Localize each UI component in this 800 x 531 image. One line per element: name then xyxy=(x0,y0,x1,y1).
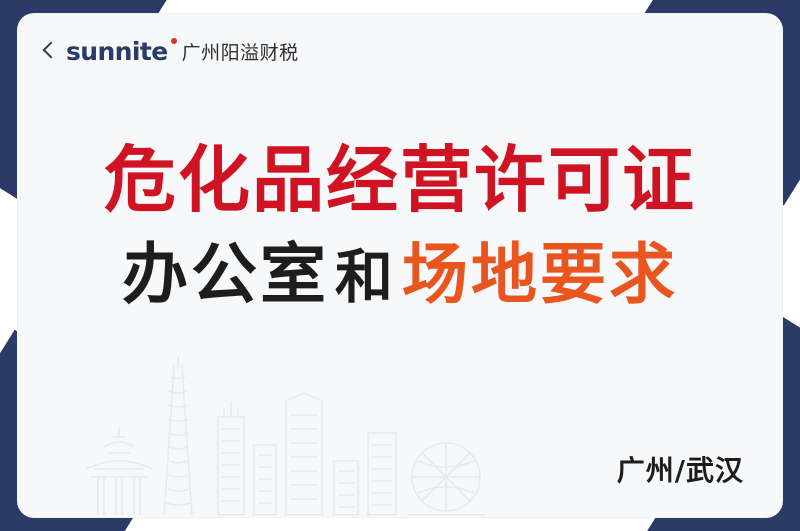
headline-segment-conjunction: 和 xyxy=(329,243,402,311)
content-card: sunnite 广州阳溢财税 危化品经营许可证 办公室和场地要求 xyxy=(18,14,782,517)
back-chevron-icon[interactable] xyxy=(40,38,56,64)
headline-segment-site: 场地要求 xyxy=(402,236,678,313)
headline-segment-office: 办公室 xyxy=(122,236,329,313)
registered-dot-icon xyxy=(171,38,177,44)
header-bar: sunnite 广州阳溢财税 xyxy=(18,14,782,88)
headline-line-1: 危化品经营许可证 xyxy=(18,144,782,216)
headline-line-2: 办公室和场地要求 xyxy=(18,242,782,308)
logo-text-part3: te xyxy=(140,39,168,64)
poster-canvas: sunnite 广州阳溢财税 危化品经营许可证 办公室和场地要求 xyxy=(0,0,800,531)
sunnite-logo[interactable]: sunnite xyxy=(66,39,168,64)
headline-block: 危化品经营许可证 办公室和场地要求 xyxy=(18,144,782,308)
brand-name-label: 广州阳溢财税 xyxy=(182,38,299,65)
city-label: 广州/武汉 xyxy=(617,449,744,489)
logo-text-part2: i xyxy=(132,39,140,64)
guangzhou-skyline-watermark-icon xyxy=(78,357,498,517)
logo-text-part1: sunn xyxy=(66,39,132,64)
